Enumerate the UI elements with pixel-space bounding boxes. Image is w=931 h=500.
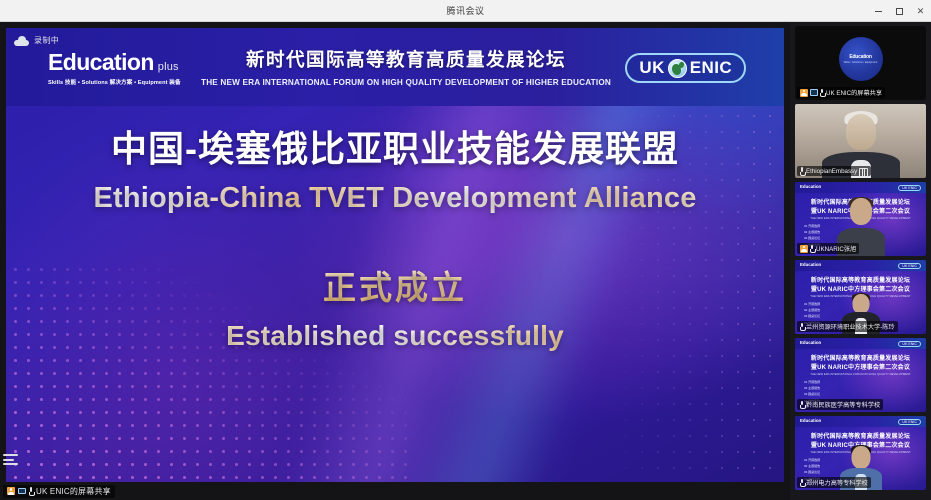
participant-label: UK ENIC的屏幕共享 — [797, 87, 885, 98]
deck-logo-text: Education — [800, 262, 821, 267]
participant-tile-uknaric-zhangxu[interactable]: Education UK ENIC 新时代国际高等教育高质量发展论坛 暨UK N… — [795, 182, 926, 256]
deck-agenda-item: 02 主题报告 — [804, 308, 820, 312]
forum-title-en: THE NEW ERA INTERNATIONAL FORUM ON HIGH … — [196, 78, 616, 87]
people-icon — [859, 168, 868, 175]
shared-screen-stage[interactable]: Educationplus Skills 技能 • Solutions 解决方案… — [0, 22, 790, 500]
education-logo-text: Education — [48, 51, 154, 74]
microphone-icon — [29, 487, 33, 495]
education-plus-logo: Educationplus Skills 技能 • Solutions 解决方案… — [48, 51, 181, 86]
user-icon — [800, 89, 808, 97]
participant-name: UK ENIC的屏幕共享 — [826, 88, 882, 97]
microphone-icon — [800, 167, 804, 175]
slide-main-content: 中国-埃塞俄比亚职业技能发展联盟 Ethiopia-China TVET Dev… — [6, 120, 784, 352]
established-cn: 正式成立 — [6, 261, 784, 309]
deck-line1: 新时代国际高等教育高质量发展论坛 — [795, 431, 926, 440]
presentation-slide: Educationplus Skills 技能 • Solutions 解决方案… — [6, 28, 784, 483]
cloud-icon — [14, 36, 29, 46]
badge-logo-subtitle: Skills • Solutions • Equipment — [844, 61, 878, 64]
microphone-icon — [800, 323, 804, 331]
close-button[interactable]: ✕ — [910, 0, 931, 22]
participant-label: 兰州资源环境职业技术大学-陈玲 — [797, 321, 898, 332]
forum-title-cn: 新时代国际高等教育高质量发展论坛 — [196, 46, 616, 72]
avatar-head — [850, 198, 872, 225]
participant-name: 黔南民族医学高等专科学校 — [806, 400, 880, 409]
window-titlebar[interactable]: 腾讯会议 ✕ — [0, 0, 931, 22]
uk-enic-logo: UK ENIC — [625, 53, 746, 83]
deck-logo-text: Education — [800, 418, 821, 423]
deck-enic-badge: UK ENIC — [898, 185, 921, 191]
participant-label: 黔南民族医学高等专科学校 — [797, 399, 883, 410]
education-logo-plus: plus — [158, 61, 179, 73]
screen-share-icon — [810, 89, 818, 96]
deck-agenda-item: 01 开幕致辞 — [804, 458, 820, 462]
participant-tile-zhengzhou-college[interactable]: Education UK ENIC 新时代国际高等教育高质量发展论坛 暨UK N… — [795, 416, 926, 490]
microphone-icon — [800, 479, 804, 487]
deck-line1: 新时代国际高等教育高质量发展论坛 — [795, 275, 926, 284]
deck-agenda-item: 03 圆桌论坛 — [804, 470, 820, 474]
share-status-bar: UK ENIC的屏幕共享 — [0, 482, 790, 500]
deck-logo-text: Education — [800, 184, 821, 189]
recording-label: 录制中 — [34, 35, 59, 46]
tencent-meeting-window: 腾讯会议 ✕ Educationplus — [0, 0, 931, 500]
forum-title-block: 新时代国际高等教育高质量发展论坛 THE NEW ERA INTERNATION… — [196, 46, 616, 87]
deck-agenda-item: 02 主题报告 — [804, 230, 820, 234]
microphone-icon — [800, 401, 804, 409]
microphone-icon — [820, 89, 824, 97]
alliance-name-cn: 中国-埃塞俄比亚职业技能发展联盟 — [6, 120, 784, 172]
uk-enic-left-text: UK — [639, 58, 664, 78]
alliance-name-en: Ethiopia-China TVET Development Alliance — [6, 182, 784, 215]
deck-enic-badge: UK ENIC — [898, 263, 921, 269]
deck-agenda-item: 03 圆桌论坛 — [804, 314, 820, 318]
globe-icon — [668, 59, 687, 78]
maximize-icon — [896, 8, 903, 15]
window-title: 腾讯会议 — [446, 4, 484, 17]
deck-line3: THE NEW ERA INTERNATIONAL FORUM ON HIGH … — [795, 372, 926, 376]
badge-logo-text: Education — [849, 54, 871, 60]
maximize-button[interactable] — [889, 0, 910, 22]
screen-share-icon — [18, 488, 26, 495]
deck-agenda-item: 01 开幕致辞 — [804, 380, 820, 384]
participant-name: 郑州电力高等专科学校 — [806, 478, 868, 487]
annotation-toolbar-handle[interactable] — [3, 454, 18, 465]
participant-label: EthiopianEmbassy — [797, 166, 871, 176]
deck-agenda-item: 02 主题报告 — [804, 386, 820, 390]
avatar-head — [852, 294, 869, 314]
deck-line2: 暨UK NARIC中方理事会第二次会议 — [795, 362, 926, 371]
uk-enic-right-text: ENIC — [690, 58, 732, 78]
established-en: Established successfully — [6, 320, 784, 352]
user-icon — [800, 245, 808, 253]
participant-name: EthiopianEmbassy — [806, 168, 857, 175]
participant-rail[interactable]: Education Skills • Solutions • Equipment… — [790, 22, 931, 500]
recording-indicator[interactable]: 录制中 — [14, 35, 59, 46]
participant-name: 兰州资源环境职业技术大学-陈玲 — [806, 322, 895, 331]
participant-tile-qiannan-college[interactable]: Education UK ENIC 新时代国际高等教育高质量发展论坛 暨UK N… — [795, 338, 926, 412]
deck-line2: 暨UK NARIC中方理事会第二次会议 — [795, 284, 926, 293]
minimize-icon — [875, 11, 882, 12]
participant-tile-screenshare[interactable]: Education Skills • Solutions • Equipment… — [795, 26, 926, 100]
education-logo-subtitle: Skills 技能 • Solutions 解决方案 • Equipment 装… — [48, 78, 181, 86]
participant-label: UKNARIC张旭 — [797, 243, 859, 254]
avatar-head — [851, 446, 870, 469]
minimize-button[interactable] — [868, 0, 889, 22]
deck-agenda-item: 02 主题报告 — [804, 464, 820, 468]
microphone-icon — [810, 245, 814, 253]
participant-name: UKNARIC张旭 — [816, 244, 856, 253]
deck-agenda-item: 01 开幕致辞 — [804, 302, 820, 306]
deck-enic-badge: UK ENIC — [898, 341, 921, 347]
deck-enic-badge: UK ENIC — [898, 419, 921, 425]
education-logo-badge: Education Skills • Solutions • Equipment — [839, 37, 883, 81]
participant-tile-ethiopian-embassy[interactable]: EthiopianEmbassy — [795, 104, 926, 178]
close-icon: ✕ — [917, 6, 925, 17]
share-status-label: UK ENIC的屏幕共享 — [36, 486, 111, 497]
share-status-chip[interactable]: UK ENIC的屏幕共享 — [3, 485, 115, 498]
deck-line1: 新时代国际高等教育高质量发展论坛 — [795, 353, 926, 362]
deck-logo-text: Education — [800, 340, 821, 345]
deck-agenda-item: 01 开幕致辞 — [804, 224, 820, 228]
slide-header-band: Educationplus Skills 技能 • Solutions 解决方案… — [6, 28, 784, 106]
window-controls: ✕ — [868, 0, 931, 22]
deck-agenda-item: 03 圆桌论坛 — [804, 236, 820, 240]
participant-label: 郑州电力高等专科学校 — [797, 477, 871, 488]
user-icon — [7, 487, 15, 495]
participant-tile-lanzhou-university[interactable]: Education UK ENIC 新时代国际高等教育高质量发展论坛 暨UK N… — [795, 260, 926, 334]
deck-agenda-item: 03 圆桌论坛 — [804, 392, 820, 396]
meeting-body: Educationplus Skills 技能 • Solutions 解决方案… — [0, 22, 931, 500]
avatar-head — [846, 114, 876, 150]
